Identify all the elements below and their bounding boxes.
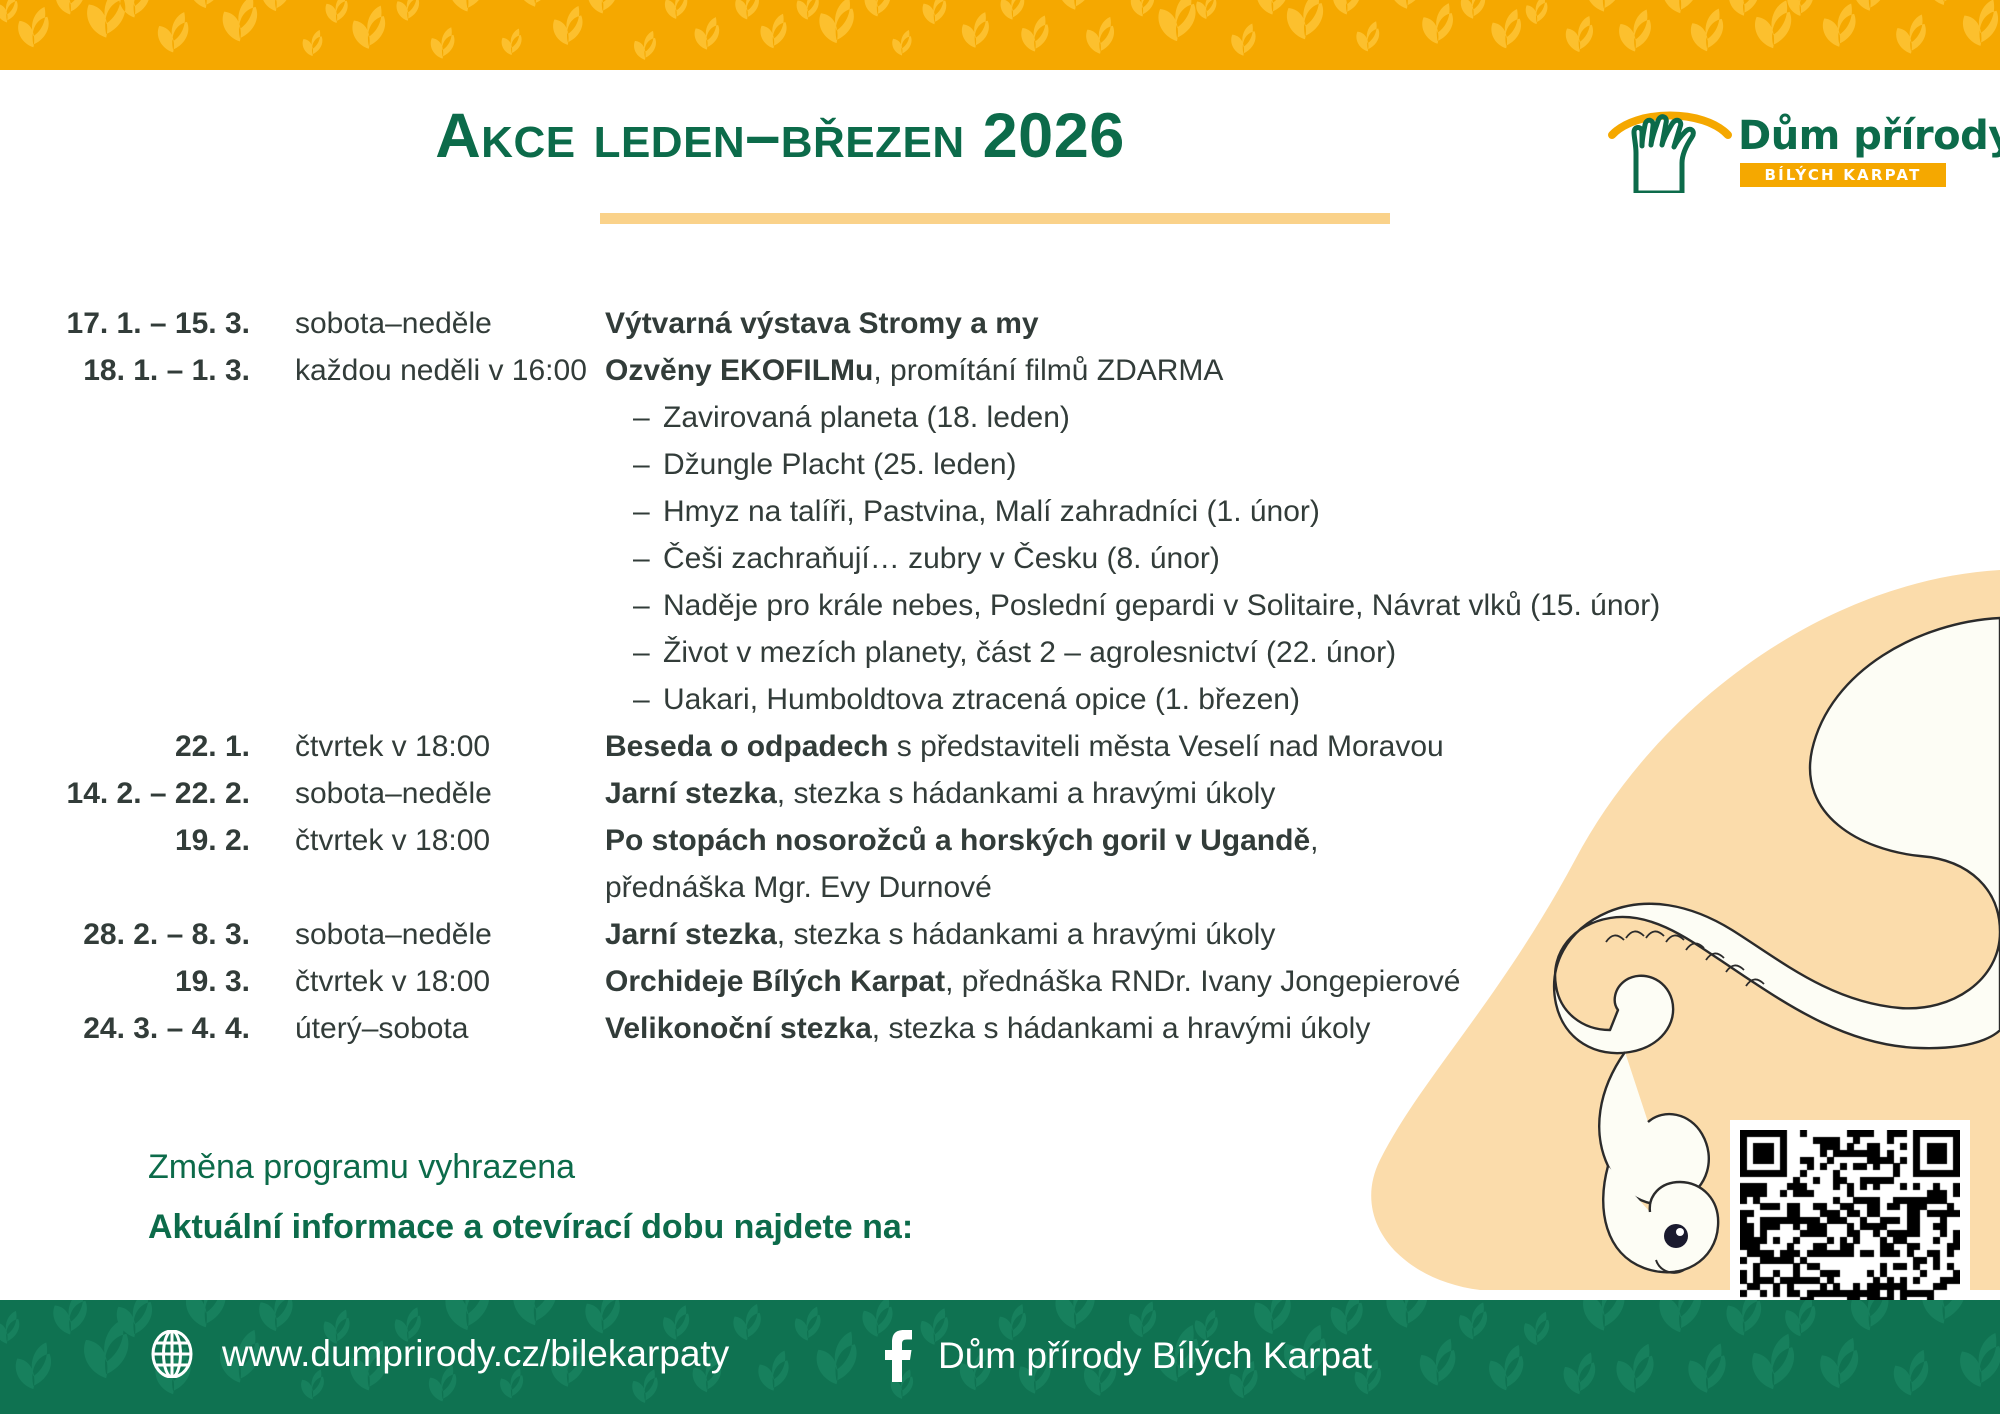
event-subtitle: , promítání filmů ZDARMA: [873, 354, 1223, 387]
event-weekday-time: sobota–neděle: [250, 300, 605, 347]
event-weekday-time: každou neděli v 16:00: [250, 347, 605, 394]
facebook-name: Dům přírody Bílých Karpat: [938, 1335, 1372, 1377]
film-list-item: –Naděje pro krále nebes, Poslední gepard…: [0, 582, 1680, 629]
event-title: Jarní stezka: [605, 777, 777, 810]
film-title: Češi zachraňují… zubry v Česku (8. únor): [663, 535, 1680, 582]
event-date: 19. 2.: [0, 817, 250, 864]
title-underline-rule: [600, 213, 1390, 224]
film-title: Zavirovaná planeta (18. leden): [663, 394, 1680, 441]
event-row: 28. 2. – 8. 3.sobota–neděleJarní stezka,…: [0, 911, 1680, 958]
film-list-item: –Uakari, Humboldtova ztracená opice (1. …: [0, 676, 1680, 723]
film-list-item: –Džungle Placht (25. leden): [0, 441, 1680, 488]
event-description: Ozvěny EKOFILMu, promítání filmů ZDARMA: [605, 347, 1680, 394]
event-title: Orchideje Bílých Karpat: [605, 965, 945, 998]
event-subtitle: , stezka s hádankami a hravými úkoly: [872, 1012, 1371, 1045]
film-title: Hmyz na talíři, Pastvina, Malí zahradníc…: [663, 488, 1680, 535]
film-list-item: –Zavirovaná planeta (18. leden): [0, 394, 1680, 441]
facebook-link[interactable]: Dům přírody Bílých Karpat: [880, 1330, 1372, 1382]
hand-tree-icon: [1600, 105, 1740, 193]
facebook-icon: [880, 1330, 912, 1382]
top-decorative-banner: [0, 0, 2000, 70]
event-row: 19. 3.čtvrtek v 18:00Orchideje Bílých Ka…: [0, 958, 1680, 1005]
event-row: 17. 1. – 15. 3.sobota–neděleVýtvarná výs…: [0, 300, 1680, 347]
spacer: [0, 441, 605, 488]
program-change-note: Změna programu vyhrazena: [148, 1148, 575, 1187]
event-weekday-time: sobota–neděle: [250, 911, 605, 958]
film-title: Naděje pro krále nebes, Poslední gepardi…: [663, 582, 1680, 629]
spacer: [0, 394, 605, 441]
event-row: 22. 1.čtvrtek v 18:00Beseda o odpadech s…: [0, 723, 1680, 770]
events-schedule: 17. 1. – 15. 3.sobota–neděleVýtvarná výs…: [0, 300, 1680, 1052]
event-title: Velikonoční stezka: [605, 1012, 872, 1045]
event-date: 14. 2. – 22. 2.: [0, 770, 250, 817]
event-title: Jarní stezka: [605, 918, 777, 951]
event-date: 28. 2. – 8. 3.: [0, 911, 250, 958]
event-subtitle: ,: [1310, 824, 1318, 857]
sprout-pattern-top: [0, 0, 2000, 70]
logo-wordmark: Dům přírody: [1738, 113, 2000, 159]
event-title: Výtvarná výstava Stromy a my: [605, 307, 1039, 340]
event-subtitle: , stezka s hádankami a hravými úkoly: [777, 918, 1276, 951]
event-date: 24. 3. – 4. 4.: [0, 1005, 250, 1052]
event-description: Jarní stezka, stezka s hádankami a hravý…: [605, 911, 1680, 958]
page-title: Akce leden–březen 2026: [0, 100, 1560, 172]
event-description: Jarní stezka, stezka s hádankami a hravý…: [605, 770, 1680, 817]
bullet-dash: –: [605, 535, 663, 582]
event-weekday-time: čtvrtek v 18:00: [250, 723, 605, 770]
spacer: [0, 864, 605, 911]
bullet-dash: –: [605, 394, 663, 441]
event-title: Beseda o odpadech: [605, 730, 888, 763]
event-date: 22. 1.: [0, 723, 250, 770]
film-title: Život v mezích planety, část 2 – agroles…: [663, 629, 1680, 676]
event-row: 14. 2. – 22. 2.sobota–neděleJarní stezka…: [0, 770, 1680, 817]
event-subtitle: s představiteli města Veselí nad Moravou: [888, 730, 1443, 763]
film-list-item: –Život v mezích planety, část 2 – agrole…: [0, 629, 1680, 676]
film-list-item: –Hmyz na talíři, Pastvina, Malí zahradní…: [0, 488, 1680, 535]
event-date: 18. 1. – 1. 3.: [0, 347, 250, 394]
spacer: [0, 629, 605, 676]
spacer: [0, 535, 605, 582]
event-description: Výtvarná výstava Stromy a my: [605, 300, 1680, 347]
page-footer: www.dumprirody.cz/bilekarpaty Dům přírod…: [0, 1300, 2000, 1414]
event-date: 19. 3.: [0, 958, 250, 1005]
logo: Dům přírody BÍLÝCH KARPAT: [1600, 105, 1950, 193]
event-description: Orchideje Bílých Karpat, přednáška RNDr.…: [605, 958, 1680, 1005]
event-row: 24. 3. – 4. 4.úterý–sobotaVelikonoční st…: [0, 1005, 1680, 1052]
event-row: 19. 2.čtvrtek v 18:00Po stopách nosorožc…: [0, 817, 1680, 864]
event-subtitle: , přednáška RNDr. Ivany Jongepierové: [945, 965, 1460, 998]
bullet-dash: –: [605, 441, 663, 488]
film-title: Uakari, Humboldtova ztracená opice (1. b…: [663, 676, 1680, 723]
event-title: Po stopách nosorožců a horských goril v …: [605, 824, 1310, 857]
bullet-dash: –: [605, 582, 663, 629]
event-description: Velikonoční stezka, stezka s hádankami a…: [605, 1005, 1680, 1052]
spacer: [0, 582, 605, 629]
event-description-continuation: přednáška Mgr. Evy Durnové: [0, 864, 1680, 911]
event-description: Beseda o odpadech s představiteli města …: [605, 723, 1680, 770]
event-row: 18. 1. – 1. 3.každou neděli v 16:00Ozvěn…: [0, 347, 1680, 394]
event-weekday-time: čtvrtek v 18:00: [250, 958, 605, 1005]
bullet-dash: –: [605, 629, 663, 676]
film-title: Džungle Placht (25. leden): [663, 441, 1680, 488]
logo-subtitle: BÍLÝCH KARPAT: [1740, 163, 1946, 187]
event-weekday-time: čtvrtek v 18:00: [250, 817, 605, 864]
current-info-note: Aktuální informace a otevírací dobu najd…: [148, 1208, 913, 1247]
event-weekday-time: úterý–sobota: [250, 1005, 605, 1052]
event-description: Po stopách nosorožců a horských goril v …: [605, 817, 1680, 864]
spacer: [0, 676, 605, 723]
globe-icon: [148, 1330, 196, 1378]
event-weekday-time: sobota–neděle: [250, 770, 605, 817]
bullet-dash: –: [605, 488, 663, 535]
film-list-item: –Češi zachraňují… zubry v Česku (8. únor…: [0, 535, 1680, 582]
spacer: [0, 488, 605, 535]
bullet-dash: –: [605, 676, 663, 723]
event-title: Ozvěny EKOFILMu: [605, 354, 873, 387]
event-date: 17. 1. – 15. 3.: [0, 300, 250, 347]
event-subtitle: , stezka s hádankami a hravými úkoly: [777, 777, 1276, 810]
event-subtitle: přednáška Mgr. Evy Durnové: [605, 864, 992, 911]
website-url: www.dumprirody.cz/bilekarpaty: [222, 1333, 729, 1375]
website-link[interactable]: www.dumprirody.cz/bilekarpaty: [148, 1330, 729, 1378]
